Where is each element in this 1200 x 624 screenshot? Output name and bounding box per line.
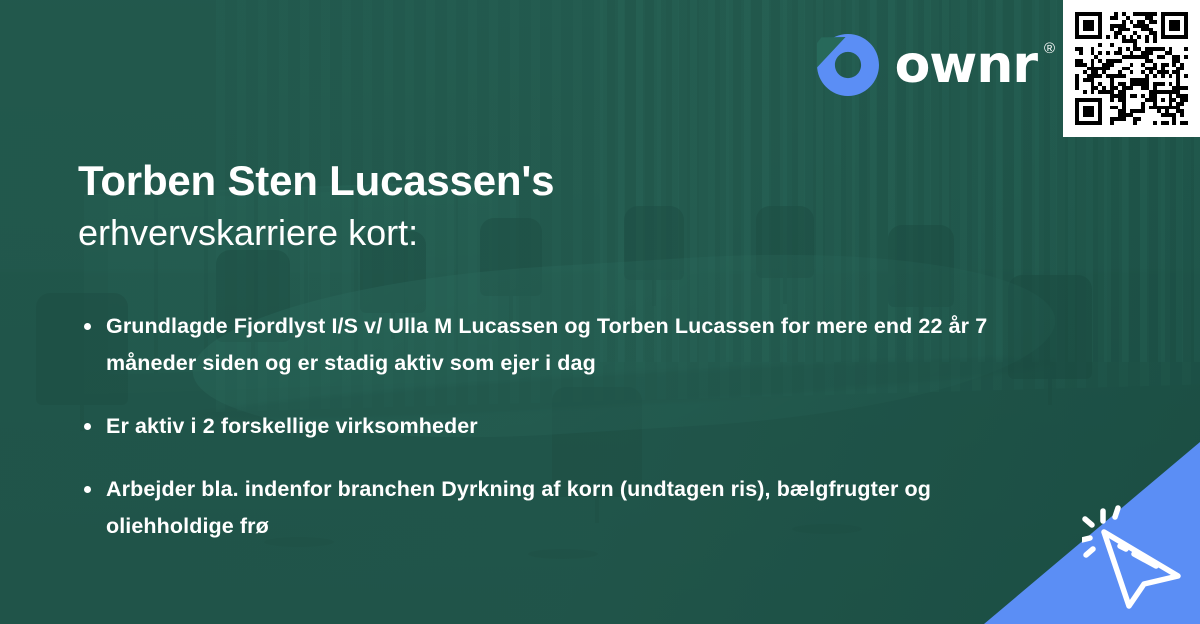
bullet-dot-icon	[84, 423, 91, 430]
ownr-swirl-circle-icon	[817, 34, 879, 96]
registered-trademark-icon: ®	[1044, 41, 1054, 56]
ownr-logo[interactable]: ownr ®	[817, 34, 1037, 96]
qr-code-icon[interactable]	[1075, 12, 1188, 125]
bullet-dot-icon	[84, 323, 91, 330]
ownr-career-card: ownr ® Torben Sten Lucassen's erhvervska…	[0, 0, 1200, 624]
career-highlights-list: Grundlagde Fjordlyst I/S v/ Ulla M Lucas…	[80, 308, 990, 545]
list-item-label: Grundlagde Fjordlyst I/S v/ Ulla M Lucas…	[106, 314, 987, 375]
qr-code-panel[interactable]	[1063, 0, 1200, 137]
ownr-wordmark-text: ownr	[895, 35, 1037, 95]
list-item: Er aktiv i 2 forskellige virksomheder	[80, 408, 990, 445]
ownr-wordmark: ownr ®	[895, 39, 1037, 91]
page-title-primary: Torben Sten Lucassen's	[78, 155, 554, 206]
list-item: Grundlagde Fjordlyst I/S v/ Ulla M Lucas…	[80, 308, 990, 382]
list-item-label: Arbejder bla. indenfor branchen Dyrkning…	[106, 477, 931, 538]
list-item-label: Er aktiv i 2 forskellige virksomheder	[106, 414, 478, 438]
bullet-dot-icon	[84, 486, 91, 493]
click-cursor-icon	[1082, 502, 1186, 610]
page-title-secondary: erhvervskarriere kort:	[78, 210, 554, 257]
page-title: Torben Sten Lucassen's erhvervskarriere …	[78, 155, 554, 257]
list-item: Arbejder bla. indenfor branchen Dyrkning…	[80, 471, 990, 545]
